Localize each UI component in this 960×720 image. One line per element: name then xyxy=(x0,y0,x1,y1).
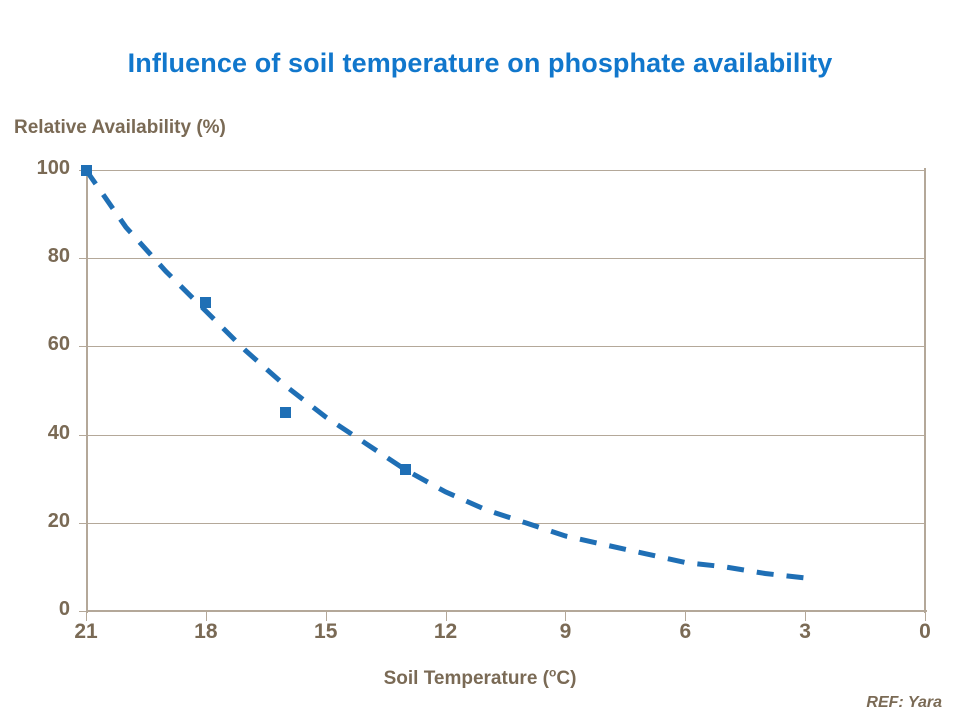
data-point-1 xyxy=(200,297,211,308)
x-tick-label-9: 9 xyxy=(535,620,595,644)
y-axis-line xyxy=(86,168,88,613)
y-tick-label-80: 80 xyxy=(8,245,70,268)
gridline-100 xyxy=(86,170,925,171)
gridline-20 xyxy=(86,523,925,524)
reference-note: REF: Yara xyxy=(866,694,942,712)
y-tick-mark-40 xyxy=(79,435,87,436)
x-tick-label-15: 15 xyxy=(296,620,356,644)
x-tick-label-3: 3 xyxy=(775,620,835,644)
gridline-0 xyxy=(86,611,925,612)
y-tick-label-100: 100 xyxy=(8,157,70,180)
trend-line xyxy=(0,0,960,720)
chart-title: Influence of soil temperature on phospha… xyxy=(0,48,960,79)
x-tick-label-18: 18 xyxy=(176,620,236,644)
gridline-80 xyxy=(86,258,925,259)
y-tick-label-40: 40 xyxy=(8,422,70,445)
x-tick-label-21: 21 xyxy=(56,620,116,644)
gridline-40 xyxy=(86,435,925,436)
y-axis-title: Relative Availability (%) xyxy=(14,117,226,139)
data-point-3 xyxy=(400,464,411,475)
x-axis-title: Soil Temperature (oC) xyxy=(0,668,960,690)
y-tick-label-60: 60 xyxy=(8,333,70,356)
x-tick-label-6: 6 xyxy=(655,620,715,644)
y-tick-mark-60 xyxy=(79,346,87,347)
x-axis-title-text: Soil Temperature ( xyxy=(384,668,549,689)
y-tick-label-20: 20 xyxy=(8,510,70,533)
data-point-2 xyxy=(280,407,291,418)
y-tick-mark-80 xyxy=(79,258,87,259)
plot-right-border xyxy=(924,168,926,613)
x-tick-label-12: 12 xyxy=(416,620,476,644)
y-tick-mark-20 xyxy=(79,523,87,524)
y-tick-label-0: 0 xyxy=(8,598,70,621)
x-axis-title-tail: C) xyxy=(556,668,576,689)
gridline-60 xyxy=(86,346,925,347)
chart-container: Influence of soil temperature on phospha… xyxy=(0,0,960,720)
x-tick-label-0: 0 xyxy=(895,620,955,644)
data-point-0 xyxy=(81,165,92,176)
